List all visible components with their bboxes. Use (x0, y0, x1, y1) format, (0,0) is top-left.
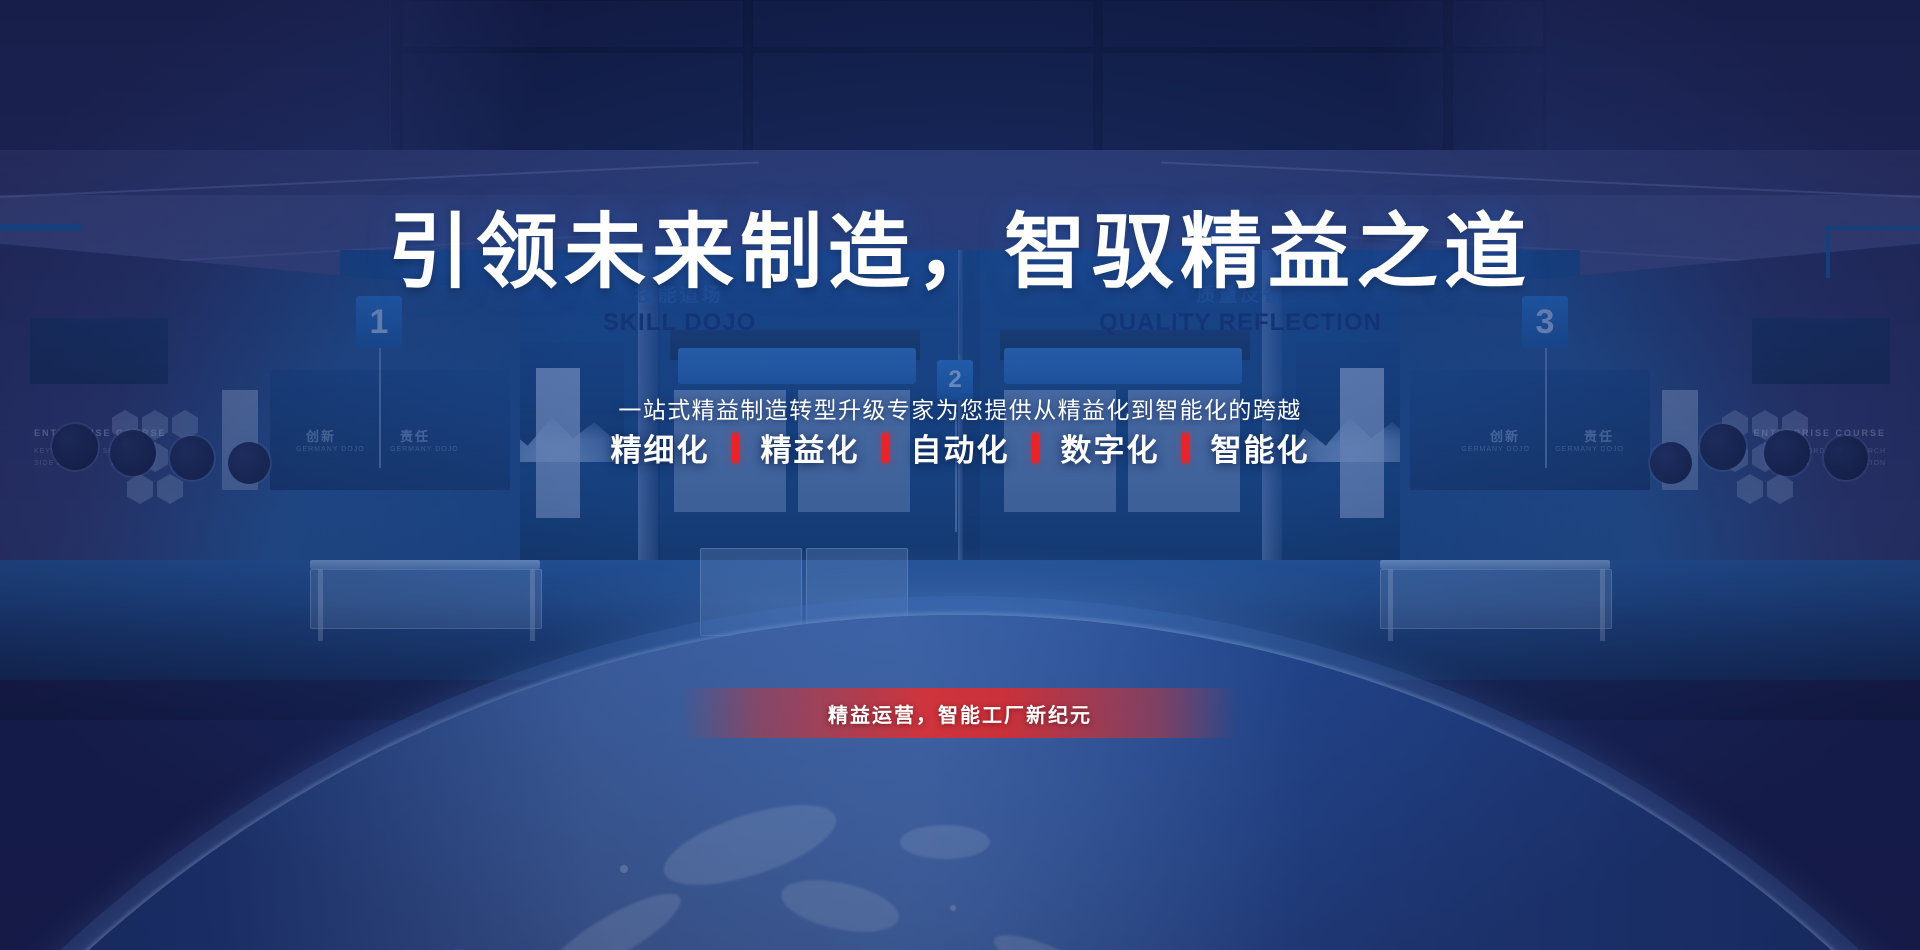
keyword-list: 精细化 精益化 自动化 数字化 智能化 (0, 425, 1920, 470)
keyword-item-2: 自动化 (889, 425, 1032, 470)
hero-banner: 技能道场 SKILL DOJO 质量反省 QUALITY REFLECTION … (0, 0, 1920, 950)
keyword-separator-icon (1182, 433, 1189, 463)
keyword-item-1: 精益化 (739, 425, 882, 470)
tagline-text: 精益运营，智能工厂新纪元 (828, 699, 1092, 728)
page-title: 引领未来制造，智驭精益之道 (0, 185, 1920, 304)
keyword-item-4: 智能化 (1189, 425, 1332, 470)
keyword-separator-icon (1032, 433, 1039, 463)
keyword-separator-icon (732, 433, 739, 463)
tagline-banner: 精益运营，智能工厂新纪元 (680, 688, 1240, 738)
keyword-item-3: 数字化 (1039, 425, 1182, 470)
keyword-separator-icon (882, 433, 889, 463)
hero-content: 引领未来制造，智驭精益之道 一站式精益制造转型升级专家为您提供从精益化到智能化的… (0, 0, 1920, 950)
keyword-item-0: 精细化 (589, 425, 732, 470)
page-subtitle: 一站式精益制造转型升级专家为您提供从精益化到智能化的跨越 (0, 391, 1920, 425)
